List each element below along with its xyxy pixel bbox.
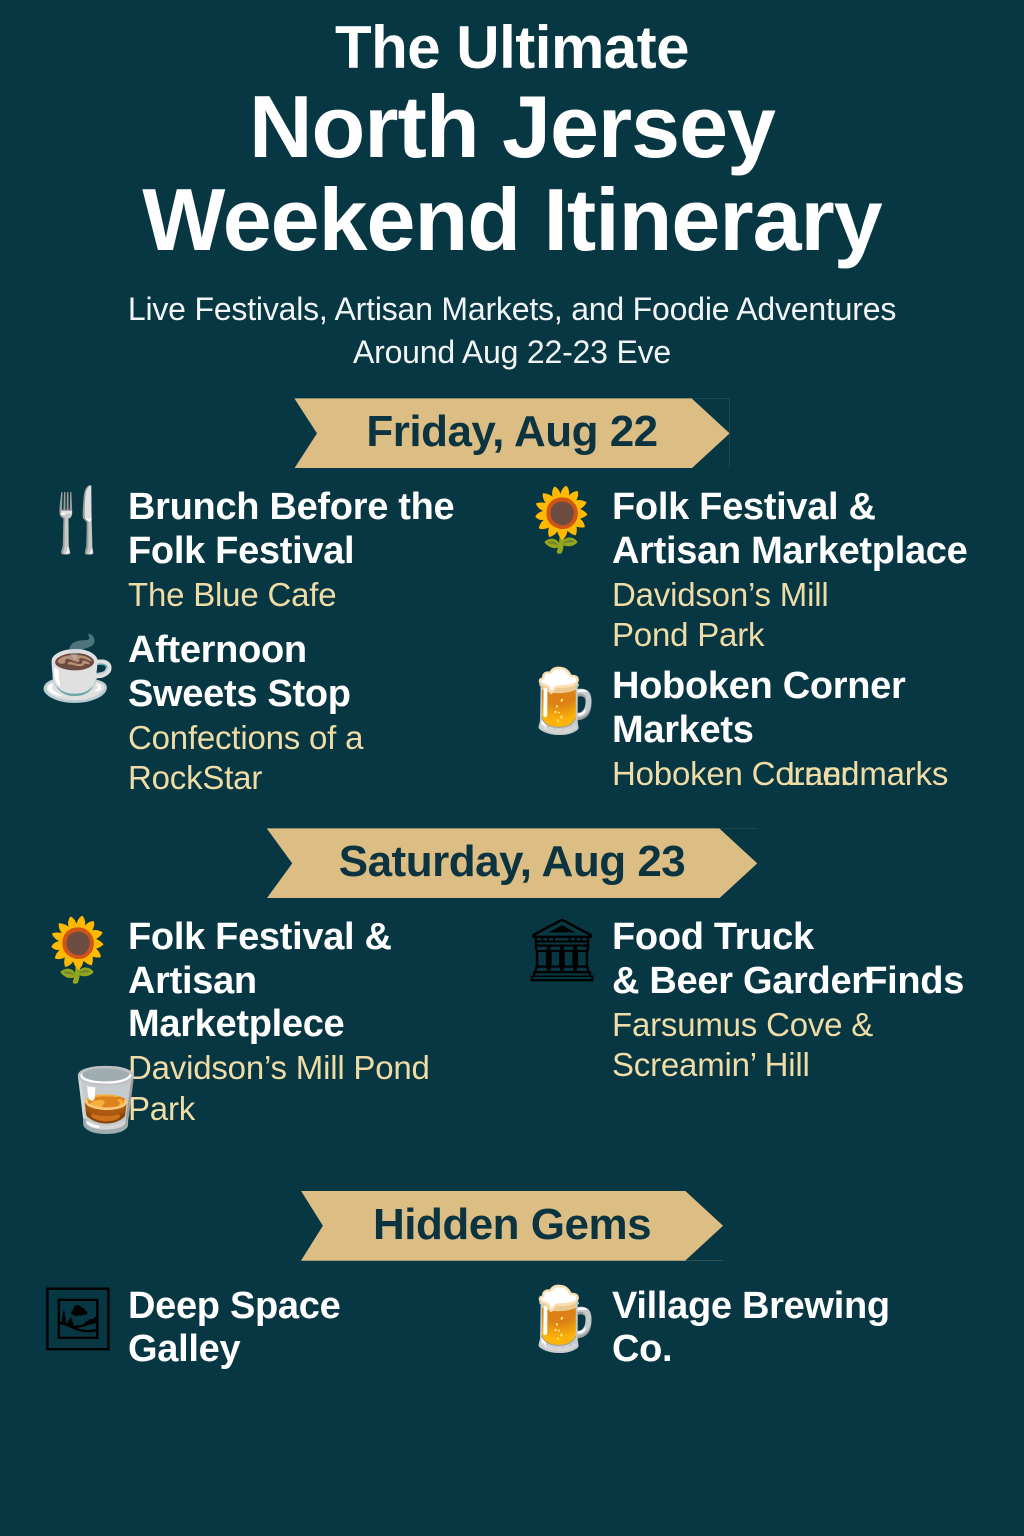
title-line-1: North Jersey — [30, 81, 994, 173]
subtitle-line-1: Live Festivals, Artisan Markets, and Foo… — [30, 288, 994, 331]
item-texts: Brunch Before the Folk Festival The Blue… — [128, 486, 512, 615]
section-banner-saturday: Saturday, Aug 23 — [267, 828, 758, 898]
title-line-2: Weekend Itinerary — [30, 174, 994, 266]
item-texts: Afternoon Sweets Stop Confections of a R… — [128, 629, 512, 798]
item-subtitle: Farsumus Cove & Screamin’ Hill — [612, 1005, 912, 1086]
list-item[interactable]: 🏛 Food Truck & Beer Garden Finds Farsumu… — [512, 916, 996, 1085]
section-banner-friday: Friday, Aug 22 — [294, 398, 729, 468]
section-saturday: 🌻 Folk Festival & Artisan Marketplece Da… — [0, 916, 1024, 1128]
item-title: Hoboken Corner Markets — [612, 665, 942, 752]
banner-friday-wrap: Friday, Aug 22 — [0, 398, 1024, 468]
coffee-cup-icon: ☕ — [28, 629, 128, 701]
friday-columns: 🍴 Brunch Before the Folk Festival The Bl… — [28, 486, 996, 798]
list-item[interactable]: 🖼 Deep Space Galley — [28, 1285, 512, 1372]
item-subtitle: Confections of a RockStar — [128, 718, 418, 799]
item-subtitle: Davidson’s Mill Pond Park — [128, 1048, 458, 1129]
item-subtitle-overflow: Landmarks — [787, 754, 948, 794]
section-banner-hidden-gems: Hidden Gems — [301, 1191, 723, 1261]
list-item[interactable]: 🍴 Brunch Before the Folk Festival The Bl… — [28, 486, 512, 615]
fork-and-knife-icon: 🍴 — [28, 486, 128, 552]
item-title: Afternoon Sweets Stop — [128, 629, 418, 716]
infographic-poster: The Ultimate North Jersey Weekend Itiner… — [0, 0, 1024, 1536]
banner-gems-wrap: Hidden Gems — [0, 1191, 1024, 1261]
gems-left-column: 🖼 Deep Space Galley — [28, 1285, 512, 1372]
friday-right-column: 🌻 Folk Festival & Artisan Marketplace Da… — [512, 486, 996, 798]
item-texts: Folk Festival & Artisan Marketplece Davi… — [128, 916, 512, 1128]
item-title-overflow: Finds — [864, 960, 964, 1003]
beer-mug-icon: 🍺 — [512, 665, 612, 733]
beer-mug-icon: 🍺 — [512, 1285, 612, 1351]
saturday-right-column: 🏛 Food Truck & Beer Garden Finds Farsumu… — [512, 916, 996, 1128]
item-title-line-1: Food Truck — [612, 916, 996, 959]
banner-saturday-wrap: Saturday, Aug 23 — [0, 828, 1024, 898]
item-title: Village Brewing Co. — [612, 1285, 912, 1372]
section-friday: 🍴 Brunch Before the Folk Festival The Bl… — [0, 486, 1024, 798]
item-texts: Food Truck & Beer Garden Finds Farsumus … — [612, 916, 996, 1085]
framed-picture-icon: 🖼 — [28, 1285, 128, 1351]
friday-left-column: 🍴 Brunch Before the Folk Festival The Bl… — [28, 486, 512, 798]
overlap-group: Hoboken Corner Landmarks — [612, 754, 851, 794]
gems-right-column: 🍺 Village Brewing Co. — [512, 1285, 996, 1372]
item-title-line-2: & Beer Garden — [612, 960, 874, 1002]
sunflower-icon: 🌻 — [512, 486, 612, 552]
title-eyebrow: The Ultimate — [30, 14, 994, 81]
item-title: Folk Festival & Artisan Marketplece — [128, 916, 418, 1046]
saturday-columns: 🌻 Folk Festival & Artisan Marketplece Da… — [28, 916, 996, 1128]
list-item[interactable]: 🍺 Village Brewing Co. — [512, 1285, 996, 1372]
subtitle-line-2: Around Aug 22-23 Eve — [30, 331, 994, 374]
sunflower-icon: 🌻 — [28, 916, 128, 982]
classical-building-icon: 🏛 — [512, 916, 612, 982]
item-subtitle: Davidson’s Mill Pond Park — [612, 575, 862, 656]
item-texts: Deep Space Galley — [128, 1285, 512, 1372]
gems-columns: 🖼 Deep Space Galley 🍺 Village Brewing Co… — [28, 1285, 996, 1372]
list-item[interactable]: 🍺 Hoboken Corner Markets Hoboken Corner … — [512, 665, 996, 794]
list-item[interactable]: 🌻 Folk Festival & Artisan Marketplace Da… — [512, 486, 996, 655]
overlap-group: & Beer Garden Finds — [612, 960, 874, 1003]
item-title-line-2-overlapped: & Beer Garden Finds — [612, 960, 996, 1003]
item-texts: Hoboken Corner Markets Hoboken Corner La… — [612, 665, 996, 794]
item-texts: Folk Festival & Artisan Marketplace Davi… — [612, 486, 996, 655]
list-item[interactable]: ☕ Afternoon Sweets Stop Confections of a… — [28, 629, 512, 798]
item-title: Brunch Before the Folk Festival — [128, 486, 458, 573]
brandy-glass-icon: 🥃 — [56, 1066, 156, 1132]
item-texts: Village Brewing Co. — [612, 1285, 996, 1372]
item-subtitle: The Blue Cafe — [128, 575, 512, 615]
section-hidden-gems: 🖼 Deep Space Galley 🍺 Village Brewing Co… — [0, 1285, 1024, 1372]
saturday-left-column: 🌻 Folk Festival & Artisan Marketplece Da… — [28, 916, 512, 1128]
poster-header: The Ultimate North Jersey Weekend Itiner… — [0, 0, 1024, 374]
item-title: Folk Festival & Artisan Marketplace — [612, 486, 996, 573]
item-title: Deep Space Galley — [128, 1285, 418, 1372]
item-subtitle-overlapped: Hoboken Corner Landmarks — [612, 754, 996, 794]
